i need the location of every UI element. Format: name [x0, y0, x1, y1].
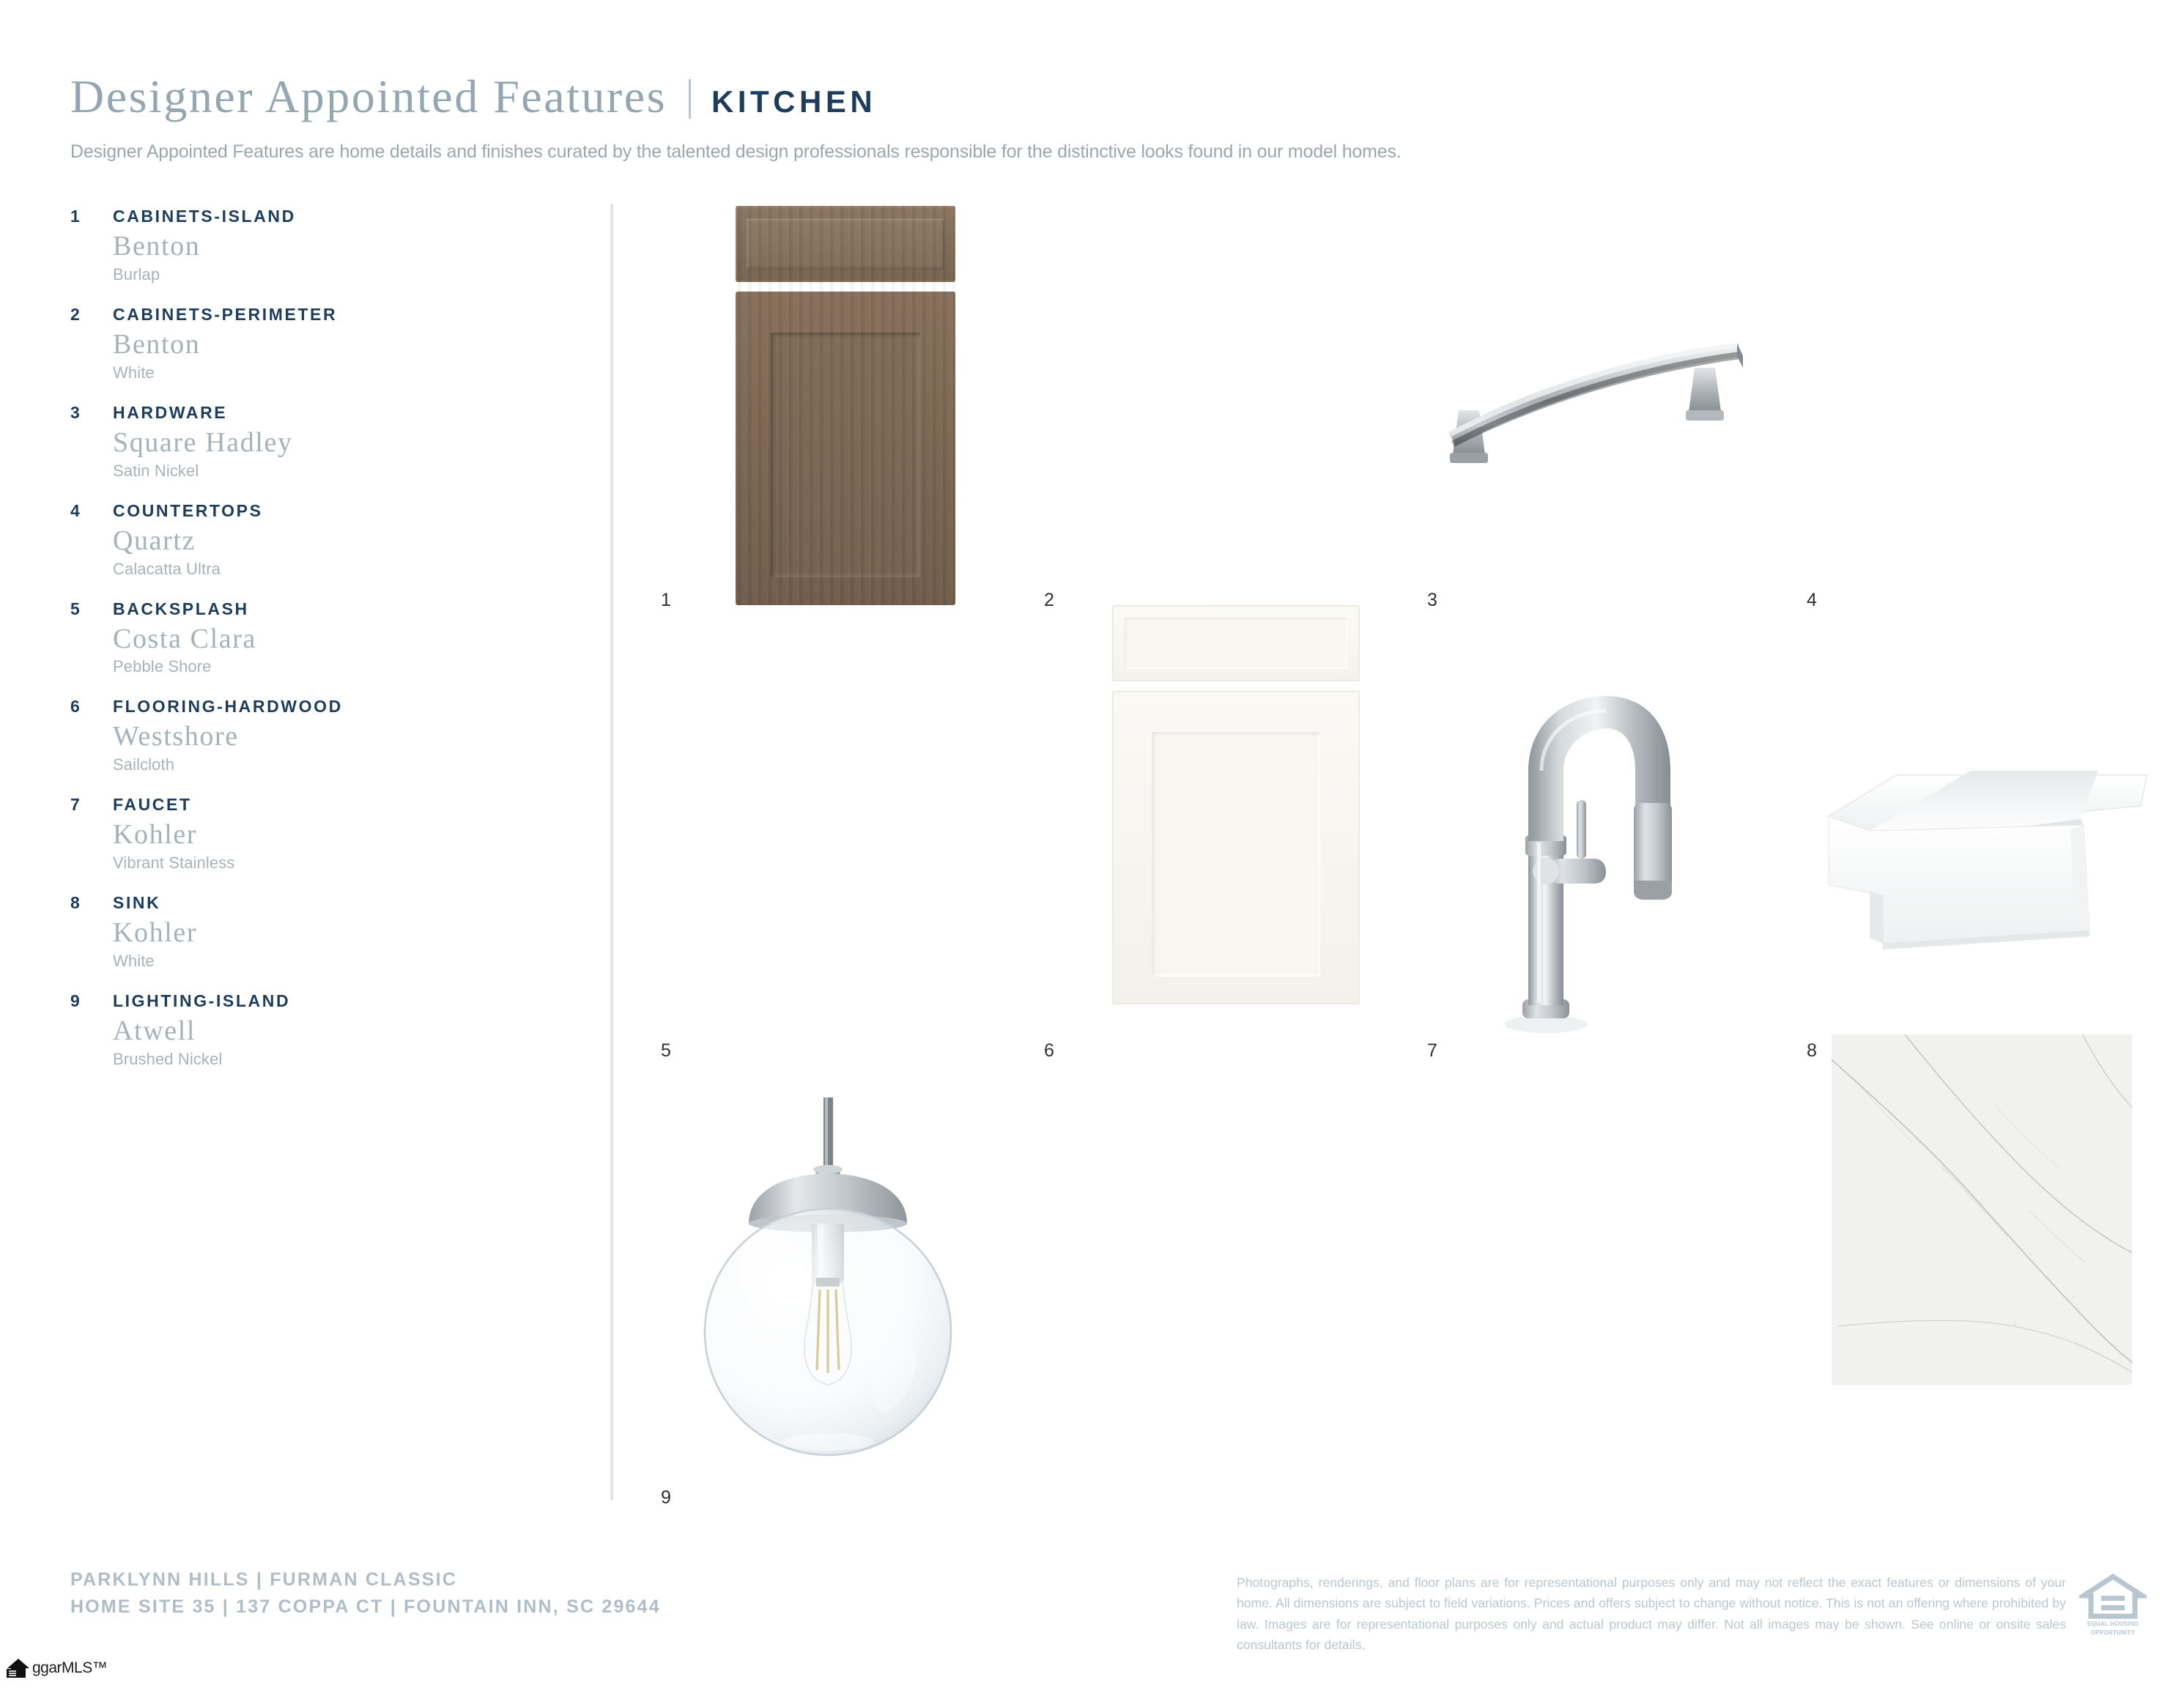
- spec-color: White: [113, 363, 583, 382]
- spec-name: Atwell: [113, 1017, 583, 1046]
- quartz-veining: [1832, 1034, 2132, 1385]
- spec-category: FAUCET: [113, 795, 192, 815]
- spec-number: 6: [70, 697, 113, 717]
- globe-pendant-icon: [681, 1097, 974, 1500]
- swatch-faucet-stainless: [1500, 689, 1698, 1040]
- swatch-caption: 3: [1427, 590, 1437, 611]
- footer-community-info: PARKLYNN HILLS | FURMAN CLASSIC HOME SIT…: [70, 1566, 661, 1621]
- spec-color: Sailcloth: [113, 755, 583, 774]
- designer-features-sheet: Designer Appointed Features KITCHEN Desi…: [0, 0, 2184, 1688]
- eho-caption-line2: OPPORTUNITY: [2079, 1629, 2147, 1637]
- list-item: 9 LIGHTING-ISLAND Atwell Brushed Nickel: [70, 991, 583, 1069]
- spec-number: 3: [70, 403, 113, 423]
- mls-label: ggarMLS™: [32, 1659, 107, 1677]
- swatch-sink-white: [1826, 762, 2155, 974]
- swatch-cabinet-door-burlap: [736, 206, 955, 605]
- swatch-cabinet-door-white: [1112, 605, 1360, 1004]
- list-item: 8 SINK Kohler White: [70, 893, 583, 971]
- page-title: Designer Appointed Features: [70, 70, 667, 124]
- swatch-caption: 7: [1427, 1040, 1437, 1062]
- vertical-divider: [610, 204, 613, 1500]
- spec-color: Brushed Nickel: [113, 1050, 583, 1069]
- spec-name: Quartz: [113, 527, 583, 556]
- spec-color: Calacatta Ultra: [113, 560, 583, 579]
- swatch-caption: 2: [1044, 590, 1054, 611]
- spec-name: Costa Clara: [113, 625, 583, 654]
- swatch-caption: 4: [1807, 590, 1817, 611]
- footer-address: HOME SITE 35 | 137 COPPA CT | FOUNTAIN I…: [70, 1593, 661, 1621]
- list-item: 4 COUNTERTOPS Quartz Calacatta Ultra: [70, 501, 583, 579]
- footer-community-name: PARKLYNN HILLS | FURMAN CLASSIC: [70, 1566, 661, 1593]
- swatch-caption: 1: [661, 590, 671, 611]
- spec-color: Satin Nickel: [113, 462, 583, 481]
- mls-house-icon: [6, 1657, 31, 1679]
- spec-name: Kohler: [113, 821, 583, 850]
- spec-name: Benton: [113, 330, 583, 360]
- list-item: 2 CABINETS-PERIMETER Benton White: [70, 305, 583, 382]
- swatch-caption: 8: [1807, 1040, 1817, 1062]
- swatch-cabinet-pull-satin-nickel: [1447, 322, 1769, 476]
- spec-color: Pebble Shore: [113, 657, 583, 676]
- swatch-pendant-light-brushed-nickel: [681, 1097, 974, 1500]
- spec-category: COUNTERTOPS: [113, 501, 263, 521]
- spec-name: Benton: [113, 232, 583, 262]
- title-row: Designer Appointed Features KITCHEN: [70, 70, 1402, 124]
- spec-color: Vibrant Stainless: [113, 854, 583, 873]
- legal-disclaimer: Photographs, renderings, and floor plans…: [1237, 1572, 2066, 1655]
- spec-list: 1 CABINETS-ISLAND Benton Burlap 2 CABINE…: [70, 207, 583, 1073]
- spec-number: 8: [70, 893, 113, 913]
- spec-category: SINK: [113, 893, 160, 913]
- eho-caption-line1: EQUAL HOUSING: [2079, 1621, 2147, 1628]
- cabinet-pull-icon: [1447, 322, 1769, 476]
- title-divider: [689, 79, 691, 119]
- spec-number: 7: [70, 795, 113, 815]
- page-header: Designer Appointed Features KITCHEN Desi…: [70, 70, 1402, 163]
- spec-category: BACKSPLASH: [113, 599, 249, 619]
- spec-number: 9: [70, 991, 113, 1011]
- list-item: 6 FLOORING-HARDWOOD Westshore Sailcloth: [70, 697, 583, 774]
- spec-number: 1: [70, 207, 113, 226]
- spec-color: Burlap: [113, 265, 583, 284]
- swatch-caption: 6: [1044, 1040, 1054, 1062]
- page-subtitle: Designer Appointed Features are home det…: [70, 141, 1402, 163]
- apron-sink-icon: [1826, 762, 2155, 974]
- equal-housing-logo: EQUAL HOUSING OPPORTUNITY: [2079, 1574, 2147, 1637]
- swatch-caption: 5: [661, 1040, 671, 1062]
- spec-number: 2: [70, 305, 113, 325]
- spec-name: Westshore: [113, 722, 583, 752]
- spec-color: White: [113, 952, 583, 971]
- spec-number: 5: [70, 599, 113, 619]
- swatch-quartz-calacatta-ultra: [1832, 1034, 2132, 1385]
- spec-category: FLOORING-HARDWOOD: [113, 697, 343, 717]
- list-item: 3 HARDWARE Square Hadley Satin Nickel: [70, 403, 583, 481]
- mls-watermark: ggarMLS™: [6, 1657, 107, 1679]
- list-item: 5 BACKSPLASH Costa Clara Pebble Shore: [70, 599, 583, 677]
- spec-category: CABINETS-ISLAND: [113, 207, 296, 226]
- faucet-icon: [1500, 689, 1698, 1040]
- spec-name: Square Hadley: [113, 429, 583, 458]
- spec-category: CABINETS-PERIMETER: [113, 305, 337, 325]
- spec-category: LIGHTING-ISLAND: [113, 991, 290, 1011]
- spec-category: HARDWARE: [113, 403, 227, 423]
- page-title-room: KITCHEN: [711, 84, 876, 119]
- spec-name: Kohler: [113, 919, 583, 948]
- spec-number: 4: [70, 501, 113, 521]
- list-item: 1 CABINETS-ISLAND Benton Burlap: [70, 207, 583, 284]
- list-item: 7 FAUCET Kohler Vibrant Stainless: [70, 795, 583, 873]
- swatch-caption: 9: [661, 1487, 671, 1509]
- equal-housing-icon: [2079, 1574, 2147, 1619]
